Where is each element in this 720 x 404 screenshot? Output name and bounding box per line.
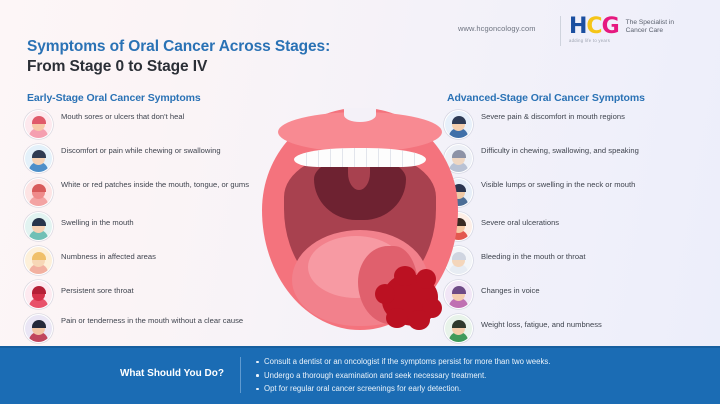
footer-divider (240, 357, 241, 393)
logo-divider (560, 16, 561, 46)
lesion-lobe (375, 284, 395, 304)
lesion-lobe (416, 269, 436, 289)
logo-letters: HCG (569, 16, 619, 37)
tooth-separator (414, 148, 415, 167)
person-swelling-icon (24, 212, 53, 241)
page-title-line2: From Stage 0 to Stage IV (27, 58, 207, 76)
open-mouth-with-tumor-illustration (262, 108, 458, 330)
tooth-separator (402, 148, 403, 167)
symptom-item: Bleeding in the mouth or throat (444, 246, 704, 275)
symptom-text: Persistent sore throat (61, 280, 134, 297)
symptom-item: Persistent sore throat (24, 280, 264, 309)
logo-letter-h: H (569, 14, 586, 39)
symptom-item: White or red patches inside the mouth, t… (24, 178, 264, 207)
footer-advice-item: Opt for regular oral cancer screenings f… (256, 382, 550, 396)
footer-advice-list: Consult a dentist or an oncologist if th… (256, 355, 550, 396)
tumor-lesion (382, 274, 438, 326)
symptom-item: Difficulty in chewing, swallowing, and s… (444, 144, 704, 173)
symptom-text: Difficulty in chewing, swallowing, and s… (481, 144, 639, 157)
symptom-item: Weight loss, fatigue, and numbness (444, 314, 704, 343)
symptom-text: Severe pain & discomfort in mouth region… (481, 110, 625, 123)
symptom-item: Severe pain & discomfort in mouth region… (444, 110, 704, 139)
tooth-separator (390, 148, 391, 167)
symptom-item: Swelling in the mouth (24, 212, 264, 241)
mouth-sore-icon (24, 110, 53, 139)
tooth-separator (318, 148, 319, 167)
footer-label: What Should You Do? (74, 368, 224, 379)
logo-letter-g: G (602, 14, 619, 39)
red-patch-tongue-icon (24, 178, 53, 207)
tooth-separator (342, 148, 343, 167)
tooth-separator (378, 148, 379, 167)
symptom-text: Swelling in the mouth (61, 212, 134, 229)
advanced-stage-symptom-list: Severe pain & discomfort in mouth region… (444, 110, 704, 348)
lesion-lobe (386, 308, 408, 328)
website-url[interactable]: www.hcgoncology.com (458, 24, 536, 33)
symptom-text: Pain or tenderness in the mouth without … (61, 314, 243, 327)
right-column-heading: Advanced-Stage Oral Cancer Symptoms (447, 92, 645, 104)
infographic-canvas: www.hcgoncology.com HCG adding life to y… (0, 0, 720, 404)
upper-lip-notch (344, 108, 376, 122)
early-stage-symptom-list: Mouth sores or ulcers that don't healDis… (24, 110, 264, 348)
symptom-item: Mouth sores or ulcers that don't heal (24, 110, 264, 139)
sore-throat-head-icon (24, 280, 53, 309)
symptom-text: Weight loss, fatigue, and numbness (481, 314, 602, 331)
person-mouth-pain-icon (24, 314, 53, 343)
symptom-item: Visible lumps or swelling in the neck or… (444, 178, 704, 207)
lesion-lobe (394, 266, 416, 286)
logo-tagline: The Specialist in Cancer Care (626, 19, 696, 36)
symptom-item: Pain or tenderness in the mouth without … (24, 314, 264, 343)
logo-letter-c: C (586, 14, 601, 39)
footer-advice-item: Undergo a thorough examination and seek … (256, 369, 550, 383)
hcg-logo[interactable]: HCG adding life to years The Specialist … (560, 16, 696, 46)
tooth-separator (354, 148, 355, 167)
symptom-text: White or red patches inside the mouth, t… (61, 178, 249, 191)
symptom-item: Discomfort or pain while chewing or swal… (24, 144, 264, 173)
tooth-separator (366, 148, 367, 167)
footer-bar: What Should You Do? Consult a dentist or… (0, 346, 720, 404)
footer-top-edge (0, 346, 720, 348)
upper-teeth (294, 148, 426, 167)
tooth-separator (306, 148, 307, 167)
symptom-text: Visible lumps or swelling in the neck or… (481, 178, 635, 191)
lesion-lobe (408, 310, 430, 330)
symptom-item: Severe oral ulcerations (444, 212, 704, 241)
person-chewing-pain-icon (24, 144, 53, 173)
symptom-text: Bleeding in the mouth or throat (481, 246, 585, 263)
symptom-text: Discomfort or pain while chewing or swal… (61, 144, 221, 157)
symptom-text: Severe oral ulcerations (481, 212, 559, 229)
page-title-line1: Symptoms of Oral Cancer Across Stages: (27, 38, 330, 56)
person-numbness-icon (24, 246, 53, 275)
left-column-heading: Early-Stage Oral Cancer Symptoms (27, 92, 201, 104)
footer-advice-item: Consult a dentist or an oncologist if th… (256, 355, 550, 369)
tooth-separator (330, 148, 331, 167)
symptom-item: Numbness in affected areas (24, 246, 264, 275)
symptom-text: Numbness in affected areas (61, 246, 156, 263)
symptom-item: Changes in voice (444, 280, 704, 309)
symptom-text: Mouth sores or ulcers that don't heal (61, 110, 184, 123)
symptom-text: Changes in voice (481, 280, 540, 297)
logo-mark: HCG adding life to years (569, 16, 619, 43)
